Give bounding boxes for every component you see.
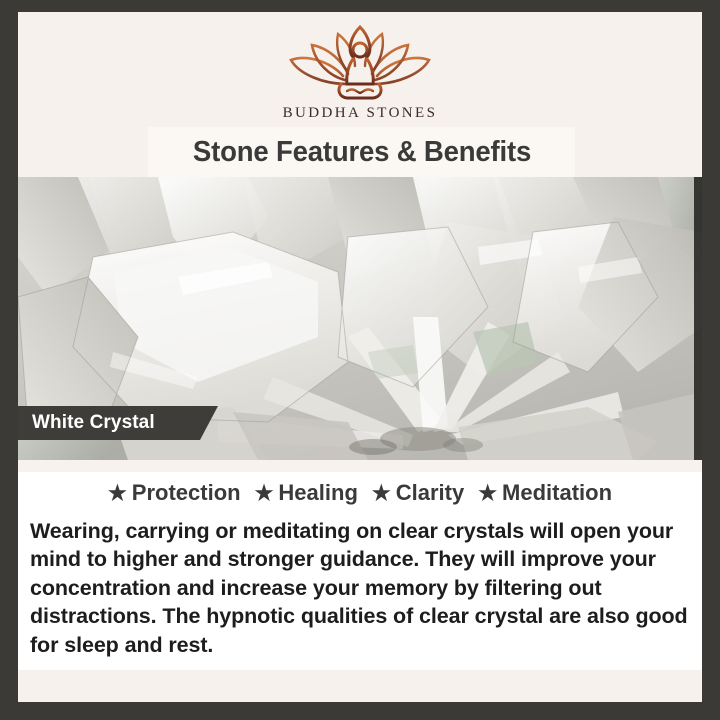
photo-content-divider [18, 460, 702, 472]
star-icon: ★ [372, 483, 391, 504]
benefit-label: Protection [132, 480, 241, 506]
brand-logo: BUDDHA STONES [18, 24, 702, 122]
star-icon: ★ [255, 483, 274, 504]
benefits-row: ★ Protection ★ Healing ★ Clarity ★ Medit… [18, 472, 702, 506]
bottom-strip [18, 670, 702, 702]
title-banner: Stone Features & Benefits [148, 127, 575, 177]
content-section: ★ Protection ★ Healing ★ Clarity ★ Medit… [18, 472, 702, 670]
benefit-item-clarity: ★ Clarity [372, 480, 464, 506]
stone-name-label: White Crystal [32, 412, 155, 434]
description-paragraph: Wearing, carrying or meditating on clear… [30, 517, 690, 659]
benefit-item-protection: ★ Protection [108, 480, 241, 506]
brand-name: BUDDHA STONES [18, 105, 702, 122]
infographic-card: BUDDHA STONES Stone Features & Benefits [0, 0, 720, 720]
benefit-item-meditation: ★ Meditation [478, 480, 612, 506]
benefit-label: Healing [278, 480, 357, 506]
star-icon: ★ [108, 483, 127, 504]
lotus-meditation-figure-icon [285, 24, 435, 102]
stone-name-badge: White Crystal [18, 406, 218, 440]
benefit-item-healing: ★ Healing [255, 480, 358, 506]
page-title: Stone Features & Benefits [192, 136, 530, 169]
benefit-label: Meditation [502, 480, 612, 506]
star-icon: ★ [478, 483, 497, 504]
card-inner-page: BUDDHA STONES Stone Features & Benefits [18, 12, 702, 702]
benefit-label: Clarity [396, 480, 464, 506]
